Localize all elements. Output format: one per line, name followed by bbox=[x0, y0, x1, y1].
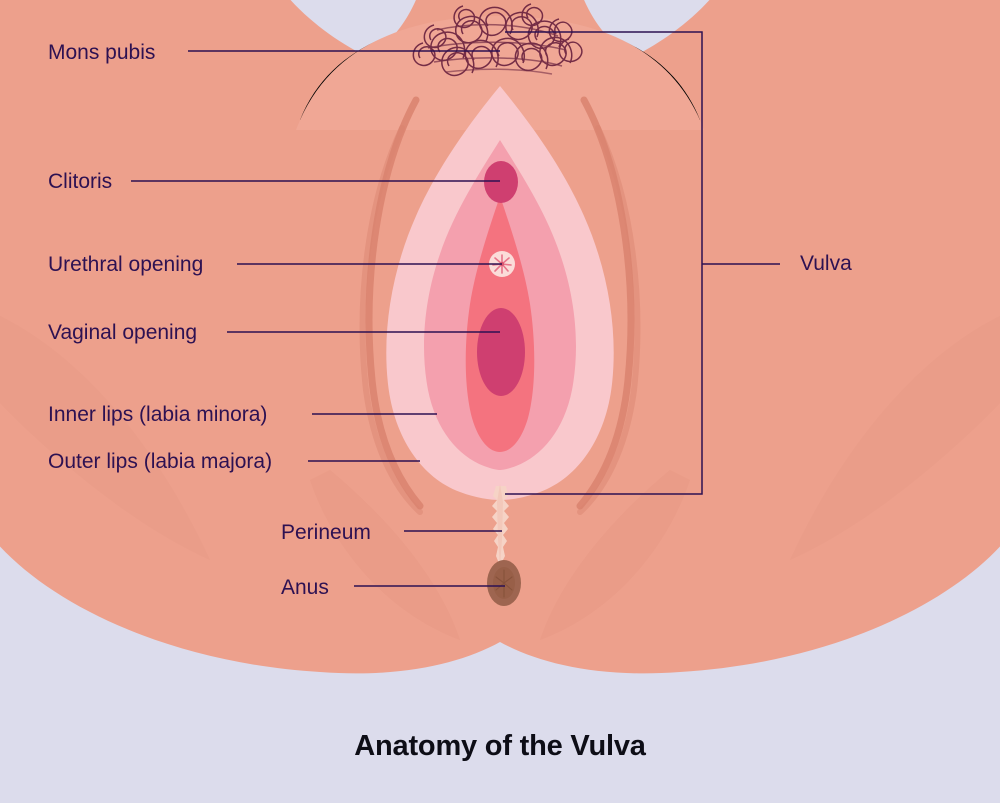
anatomy-diagram: Mons pubis Clitoris Urethral opening Vag… bbox=[0, 0, 1000, 803]
label-clitoris: Clitoris bbox=[48, 171, 112, 192]
label-urethral-opening: Urethral opening bbox=[48, 254, 203, 275]
label-inner-lips: Inner lips (labia minora) bbox=[48, 404, 267, 425]
label-mons-pubis: Mons pubis bbox=[48, 42, 155, 63]
vulva-bracket bbox=[505, 32, 702, 494]
label-outer-lips: Outer lips (labia majora) bbox=[48, 451, 272, 472]
label-vulva: Vulva bbox=[800, 253, 852, 274]
annotation-lines bbox=[0, 0, 1000, 803]
label-anus: Anus bbox=[281, 577, 329, 598]
label-vaginal-opening: Vaginal opening bbox=[48, 322, 197, 343]
figure-title: Anatomy of the Vulva bbox=[0, 730, 1000, 763]
label-perineum: Perineum bbox=[281, 522, 371, 543]
